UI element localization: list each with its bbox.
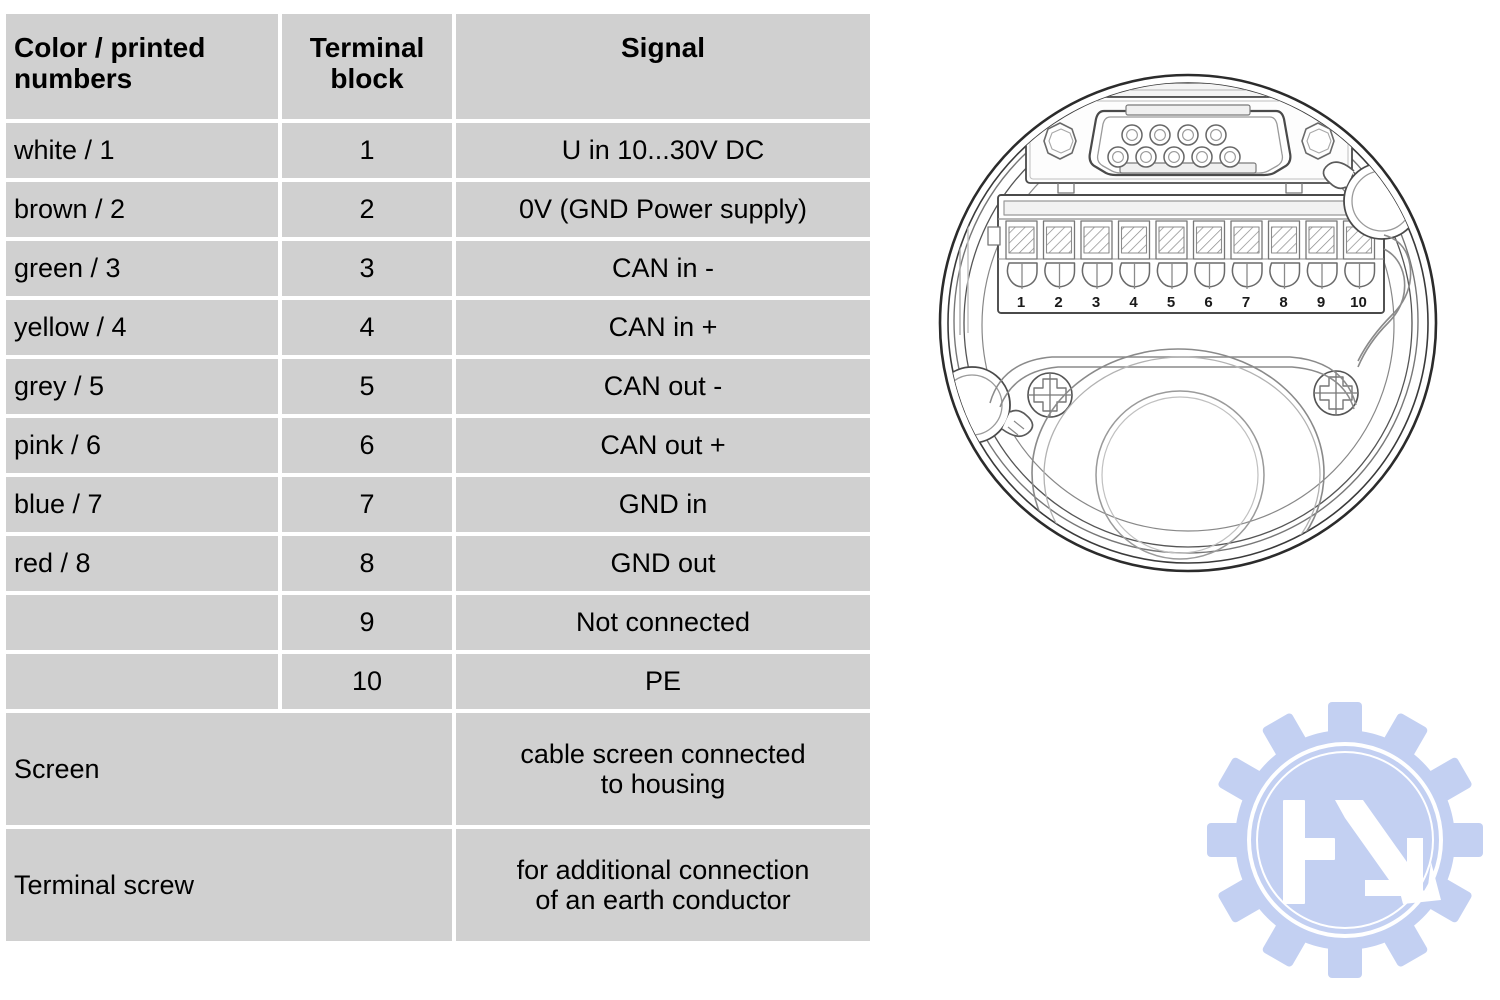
- header-color: Color / printednumbers: [6, 14, 278, 119]
- cell-merged-signal: for additional connectionof an earth con…: [456, 829, 870, 941]
- table-row: Terminal screwfor additional connectiono…: [6, 829, 870, 941]
- svg-text:1: 1: [1017, 294, 1025, 311]
- cell-merged-signal-line2: to housing: [601, 769, 726, 799]
- d-sub-9-pin-connector: [1090, 105, 1291, 175]
- cell-merged-signal-line2: of an earth conductor: [535, 885, 790, 915]
- cell-signal: CAN in -: [456, 241, 870, 296]
- header-block-line2: block: [330, 63, 403, 94]
- cell-color: blue / 7: [6, 477, 278, 532]
- cell-signal: CAN in +: [456, 300, 870, 355]
- header-block-line1: Terminal: [310, 32, 425, 63]
- table-row: white / 11U in 10...30V DC: [6, 123, 870, 178]
- wiring-assignment-table: Color / printednumbersTerminalblockSigna…: [2, 10, 874, 945]
- cell-signal: GND out: [456, 536, 870, 591]
- cell-color: [6, 654, 278, 709]
- svg-text:10: 10: [1350, 294, 1367, 311]
- cell-color: yellow / 4: [6, 300, 278, 355]
- svg-text:8: 8: [1279, 294, 1287, 311]
- cell-terminal-block: 1: [282, 123, 452, 178]
- cell-signal: U in 10...30V DC: [456, 123, 870, 178]
- table-row: 10PE: [6, 654, 870, 709]
- cell-terminal-block: 9: [282, 595, 452, 650]
- cell-color: pink / 6: [6, 418, 278, 473]
- cell-color: red / 8: [6, 536, 278, 591]
- svg-text:2: 2: [1054, 294, 1062, 311]
- cell-terminal-block: 3: [282, 241, 452, 296]
- cell-signal: 0V (GND Power supply): [456, 182, 870, 237]
- header-color-line1: Color / printed: [14, 32, 205, 63]
- housing-center-boss: [1032, 349, 1324, 597]
- table-row: red / 88GND out: [6, 536, 870, 591]
- cell-terminal-block: 2: [282, 182, 452, 237]
- cell-color: [6, 595, 278, 650]
- svg-text:9: 9: [1317, 294, 1325, 311]
- cell-terminal-block: 10: [282, 654, 452, 709]
- table-row: yellow / 44CAN in +: [6, 300, 870, 355]
- cell-terminal-block: 6: [282, 418, 452, 473]
- cell-color: white / 1: [6, 123, 278, 178]
- cell-terminal-block: 8: [282, 536, 452, 591]
- cell-signal: GND in: [456, 477, 870, 532]
- cell-merged-signal-line1: cable screen connected: [520, 739, 805, 769]
- gear-k-logo-watermark: [1195, 690, 1495, 990]
- svg-text:3: 3: [1092, 294, 1100, 311]
- svg-text:4: 4: [1129, 294, 1138, 311]
- cell-terminal-block: 7: [282, 477, 452, 532]
- table-row: Screencable screen connectedto housing: [6, 713, 870, 825]
- svg-text:6: 6: [1204, 294, 1212, 311]
- table-row: brown / 220V (GND Power supply): [6, 182, 870, 237]
- cell-color: brown / 2: [6, 182, 278, 237]
- header-signal: Signal: [456, 14, 870, 119]
- table-header-row: Color / printednumbersTerminalblockSigna…: [6, 14, 870, 119]
- cell-signal: CAN out -: [456, 359, 870, 414]
- table-row: grey / 55CAN out -: [6, 359, 870, 414]
- cell-merged-label: Terminal screw: [6, 829, 452, 941]
- cell-merged-signal-line1: for additional connection: [517, 855, 810, 885]
- svg-text:5: 5: [1167, 294, 1175, 311]
- table-row: blue / 77GND in: [6, 477, 870, 532]
- cell-merged-signal: cable screen connectedto housing: [456, 713, 870, 825]
- sensor-rear-housing-drawing: 12345678910: [930, 5, 1470, 645]
- svg-text:7: 7: [1242, 294, 1250, 311]
- cell-color: green / 3: [6, 241, 278, 296]
- cell-terminal-block: 5: [282, 359, 452, 414]
- cell-merged-label: Screen: [6, 713, 452, 825]
- cell-terminal-block: 4: [282, 300, 452, 355]
- cell-signal: Not connected: [456, 595, 870, 650]
- cell-signal: CAN out +: [456, 418, 870, 473]
- cell-color: grey / 5: [6, 359, 278, 414]
- cell-signal: PE: [456, 654, 870, 709]
- table-row: green / 33CAN in -: [6, 241, 870, 296]
- terminal-block-10-position: 12345678910: [988, 195, 1384, 313]
- housing-vent-hole: [1166, 42, 1206, 78]
- table-row: pink / 66CAN out +: [6, 418, 870, 473]
- table-row: 9Not connected: [6, 595, 870, 650]
- header-terminal-block: Terminalblock: [282, 14, 452, 119]
- header-color-line2: numbers: [14, 63, 132, 94]
